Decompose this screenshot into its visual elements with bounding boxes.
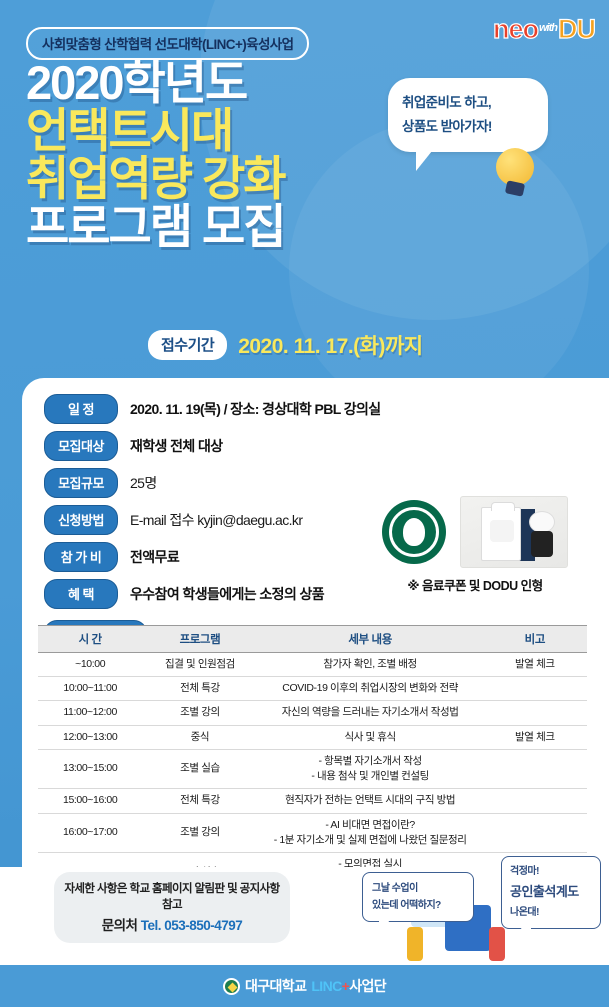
cell-note: 발열 체크 (483, 725, 587, 749)
footer-linc-suffix: 사업단 (349, 978, 386, 994)
cell-time: ~10:00 (38, 653, 142, 677)
cell-detail: 자신의 역량을 드러내는 자기소개서 작성법 (258, 701, 483, 725)
cell-time: 15:00~16:00 (38, 789, 142, 813)
top-bubble-line-2: 상품도 받아가자! (402, 115, 534, 139)
info-label-benefit: 혜 택 (44, 579, 118, 609)
footer-linc-name: LINC+사업단 (311, 976, 386, 996)
footer-university-name: 대구대학교 (245, 976, 306, 996)
info-value-apply: E-mail 접수 kyjin@daegu.ac.kr (130, 510, 302, 530)
cell-time: 12:00~13:00 (38, 725, 142, 749)
bubble-right-highlight: 공인출석계도 (510, 882, 592, 903)
cell-program: 집결 및 인원점검 (142, 653, 257, 677)
cell-note (483, 813, 587, 852)
info-value-schedule: 2020. 11. 19(목) / 장소: 경상대학 PBL 강의실 (130, 399, 381, 419)
footer-linc-prefix: LINC (311, 978, 341, 994)
logo-with-text: with (539, 23, 557, 34)
program-badge-label: 사회맞춤형 산학협력 선도대학(LINC+)육성사업 (42, 37, 293, 52)
contact-tel-line: 문의처 Tel. 053-850-4797 (64, 914, 280, 934)
table-row: 16:00~17:00조별 강의- AI 비대면 면접이란?- 1분 자기소개 … (38, 813, 587, 852)
bottom-speech-bubble-right: 걱정마! 공인출석계도 나온대! (501, 856, 601, 929)
info-row-apply: 신청방법 E-mail 접수 kyjin@daegu.ac.kr (44, 505, 591, 535)
info-label-target: 모집대상 (44, 431, 118, 461)
cell-detail: COVID-19 이후의 취업시장의 변화와 전략 (258, 677, 483, 701)
cell-note (483, 789, 587, 813)
table-row: 11:00~12:00조별 강의자신의 역량을 드러내는 자기소개서 작성법 (38, 701, 587, 725)
top-bubble-line-1: 취업준비도 하고, (402, 91, 534, 115)
cell-time: 10:00~11:00 (38, 677, 142, 701)
cell-program: 전체 특강 (142, 677, 257, 701)
background-circle-small (289, 120, 589, 420)
info-value-capacity: 25명 (130, 473, 157, 493)
info-value-fee: 전액무료 (130, 547, 179, 567)
deadline-banner: 접수기간 2020. 11. 17.(화)까지 (148, 330, 423, 360)
cell-note (483, 749, 587, 788)
table-header-row: 시 간 프로그램 세부 내용 비고 (38, 626, 587, 653)
page-title: 2020학년도 언택트시대 취업역량 강화 프로그램 모집 (26, 60, 285, 252)
lightbulb-glass (496, 148, 534, 186)
table-row: ~10:00집결 및 인원점검참가자 확인, 조별 배정발열 체크 (38, 653, 587, 677)
cell-time: 16:00~17:00 (38, 813, 142, 852)
info-row-benefit: 혜 택 우수참여 학생들에게는 소정의 상품 (44, 579, 591, 609)
info-row-capacity: 모집규모 25명 (44, 468, 591, 498)
bubble-right-line-3: 나온대! (510, 905, 592, 921)
lightbulb-icon (492, 148, 538, 204)
bubble-right-line-1: 걱정마! (510, 864, 592, 880)
cell-detail: 참가자 확인, 조별 배정 (258, 653, 483, 677)
deadline-date: 2020. 11. 17.(화)까지 (238, 330, 422, 360)
cell-time: 11:00~12:00 (38, 701, 142, 725)
footer-logo: 대구대학교 LINC+사업단 (223, 976, 386, 996)
info-list: 일 정 2020. 11. 19(목) / 장소: 경상대학 PBL 강의실 모… (44, 394, 591, 609)
cell-program: 조별 강의 (142, 813, 257, 852)
neo-with-du-logo: neo with DU (493, 16, 595, 43)
university-seal-icon (223, 978, 240, 995)
cell-program: 조별 강의 (142, 701, 257, 725)
poster-root: 사회맞춤형 산학협력 선도대학(LINC+)육성사업 neo with DU 2… (0, 0, 609, 1007)
cell-detail: - AI 비대면 면접이란?- 1분 자기소개 및 실제 면접에 나왔던 질문정… (258, 813, 483, 852)
headline-line-4: 프로그램 모집 (26, 204, 285, 250)
cell-program: 전체 특강 (142, 789, 257, 813)
column-header-time: 시 간 (38, 626, 142, 653)
bubble-left-line-1: 그날 수업이 (372, 880, 464, 897)
bubble-left-line-2: 있는데 어떡하지? (372, 897, 464, 914)
schedule-table-head: 시 간 프로그램 세부 내용 비고 (38, 626, 587, 653)
column-header-note: 비고 (483, 626, 587, 653)
headline-line-3: 취업역량 강화 (26, 156, 285, 202)
top-speech-bubble: 취업준비도 하고, 상품도 받아가자! (388, 78, 548, 152)
cell-program: 조별 실습 (142, 749, 257, 788)
info-row-schedule: 일 정 2020. 11. 19(목) / 장소: 경상대학 PBL 강의실 (44, 394, 591, 424)
table-row: 15:00~16:00전체 특강현직자가 전하는 언택트 시대의 구직 방법 (38, 789, 587, 813)
cell-detail: - 항목별 자기소개서 작성- 내용 첨삭 및 개인별 컨설팅 (258, 749, 483, 788)
cell-note: 발열 체크 (483, 653, 587, 677)
info-row-target: 모집대상 재학생 전체 대상 (44, 431, 591, 461)
footer-bar: 대구대학교 LINC+사업단 (0, 965, 609, 1007)
contact-note: 자세한 사항은 학교 홈페이지 알림판 및 공지사항 참고 (64, 880, 280, 912)
info-row-fee: 참 가 비 전액무료 (44, 542, 591, 572)
column-header-program: 프로그램 (142, 626, 257, 653)
headline-line-1: 2020학년도 (26, 60, 285, 106)
contact-box: 자세한 사항은 학교 홈페이지 알림판 및 공지사항 참고 문의처 Tel. 0… (54, 872, 290, 943)
headline-line-2: 언택트시대 (26, 108, 285, 154)
bottom-speech-bubble-left: 그날 수업이 있는데 어떡하지? (362, 872, 474, 922)
logo-neo-text: neo (493, 16, 538, 43)
cell-detail: 현직자가 전하는 언택트 시대의 구직 방법 (258, 789, 483, 813)
puzzle-person-yellow (407, 927, 423, 961)
cell-time: 13:00~15:00 (38, 749, 142, 788)
lightbulb-base (505, 180, 525, 196)
info-value-target: 재학생 전체 대상 (130, 436, 223, 456)
contact-tel-prefix: 문의처 (102, 918, 141, 933)
info-label-schedule: 일 정 (44, 394, 118, 424)
table-row: 10:00~11:00전체 특강COVID-19 이후의 취업시장의 변화와 전… (38, 677, 587, 701)
info-label-apply: 신청방법 (44, 505, 118, 535)
info-label-capacity: 모집규모 (44, 468, 118, 498)
cell-program: 중식 (142, 725, 257, 749)
table-row: 12:00~13:00중식식사 및 휴식발열 체크 (38, 725, 587, 749)
info-value-benefit: 우수참여 학생들에게는 소정의 상품 (130, 584, 324, 604)
logo-du-text: DU (558, 16, 595, 43)
contact-tel-number: Tel. 053-850-4797 (141, 918, 243, 933)
deadline-label: 접수기간 (148, 330, 227, 360)
cell-detail: 식사 및 휴식 (258, 725, 483, 749)
cell-note (483, 677, 587, 701)
puzzle-person-red (489, 927, 505, 961)
info-label-fee: 참 가 비 (44, 542, 118, 572)
table-row: 13:00~15:00조별 실습- 항목별 자기소개서 작성- 내용 첨삭 및 … (38, 749, 587, 788)
column-header-detail: 세부 내용 (258, 626, 483, 653)
cell-note (483, 701, 587, 725)
